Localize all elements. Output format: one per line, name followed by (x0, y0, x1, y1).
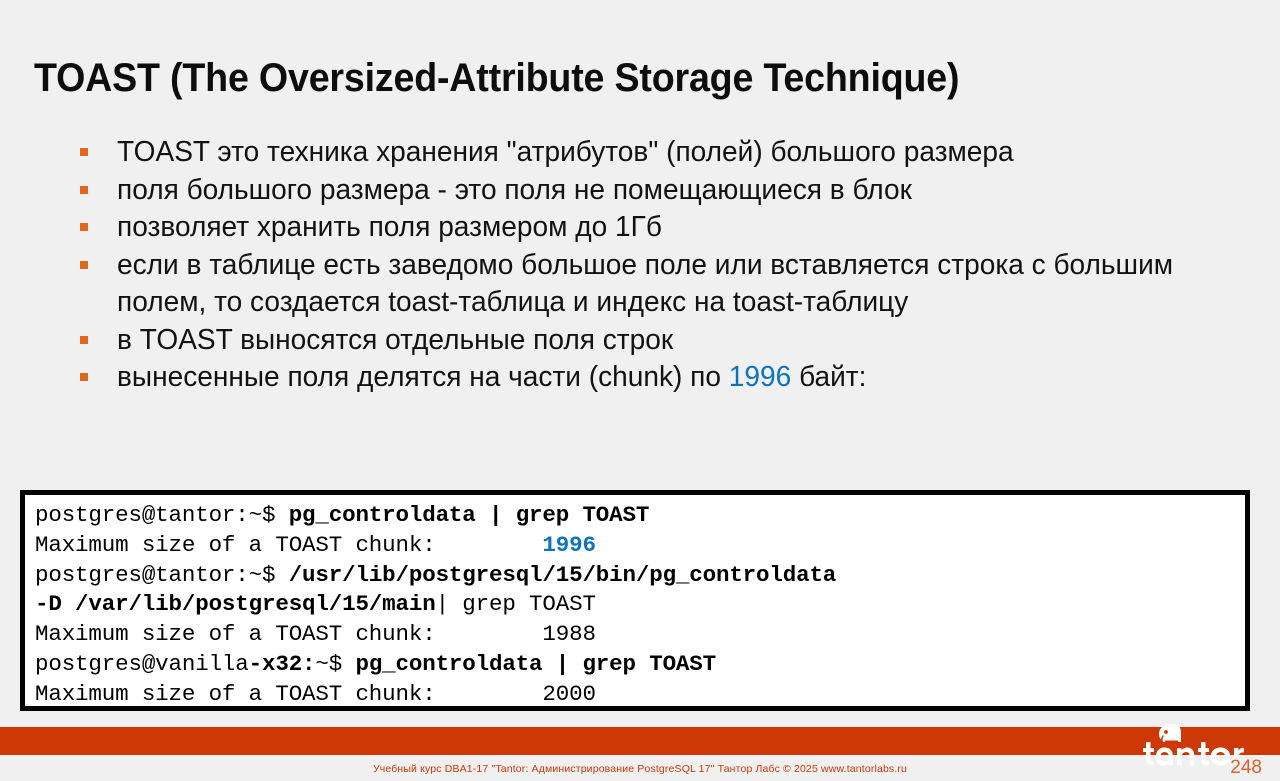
output-pad (436, 532, 543, 558)
bullet-square-icon (80, 148, 88, 156)
terminal-lines: postgres@tantor:~$ pg_controldata | grep… (25, 495, 1245, 710)
bullet-text: позволяет хранить поля размером до 1Гб (117, 209, 1174, 247)
terminal-line: Maximum size of a TOAST chunk: 2000 (35, 680, 1245, 710)
output-label: Maximum size of a TOAST chunk: (35, 681, 436, 707)
shell-command-tail: | grep TOAST (436, 591, 596, 617)
shell-prompt: postgres@tantor:~$ (35, 502, 289, 528)
footer-band (0, 727, 1280, 755)
bullet-list: TOAST это техника хранения "атрибутов" (… (80, 134, 1190, 397)
terminal-line: postgres@vanilla-x32:~$ pg_controldata |… (35, 650, 1245, 680)
shell-prompt-tail: ~$ (315, 651, 355, 677)
chunk-size-highlight: 1996 (729, 361, 791, 393)
terminal-line: -D /var/lib/postgresql/15/main| grep TOA… (35, 590, 1245, 620)
list-item: TOAST это техника хранения "атрибутов" (… (80, 134, 1190, 172)
output-pad (436, 681, 543, 707)
bullet-text: поля большого размера - это поля не поме… (117, 172, 1174, 210)
bullet-text-after: байт: (791, 361, 866, 393)
list-item: позволяет хранить поля размером до 1Гб (80, 209, 1190, 247)
list-item: если в таблице есть заведомо большое пол… (80, 247, 1190, 322)
shell-command: pg_controldata | grep TOAST (289, 502, 650, 528)
output-label: Maximum size of a TOAST chunk: (35, 621, 436, 647)
shell-command: pg_controldata | grep TOAST (355, 651, 716, 677)
terminal-line: Maximum size of a TOAST chunk: 1988 (35, 620, 1245, 650)
output-value: 1988 (542, 621, 595, 647)
bullet-square-icon (80, 373, 88, 381)
list-item: в TOAST выносятся отдельные поля строк (80, 322, 1190, 360)
terminal-line: Maximum size of a TOAST chunk: 1996 (35, 531, 1245, 561)
bullet-square-icon (80, 186, 88, 194)
slide-root: TOAST (The Oversized-Attribute Storage T… (0, 0, 1280, 781)
shell-command-continued: -D /var/lib/postgresql/15/main (35, 591, 436, 617)
output-label: Maximum size of a TOAST chunk: (35, 532, 436, 558)
shell-prompt-host: postgres@vanilla (35, 651, 249, 677)
bullet-square-icon (80, 336, 88, 344)
list-item: вынесенные поля делятся на части (chunk)… (80, 359, 1190, 397)
output-pad (436, 621, 543, 647)
terminal-line: postgres@tantor:~$ /usr/lib/postgresql/1… (35, 561, 1245, 591)
bullet-text: если в таблице есть заведомо большое пол… (117, 247, 1174, 322)
page-title: TOAST (The Oversized-Attribute Storage T… (34, 54, 1171, 102)
shell-command: /usr/lib/postgresql/15/bin/pg_controldat… (289, 562, 836, 588)
bullet-square-icon (80, 223, 88, 231)
shell-prompt-suffix: -x32: (249, 651, 316, 677)
bullet-text: в TOAST выносятся отдельные поля строк (117, 322, 1174, 360)
output-value: 2000 (542, 681, 595, 707)
bullet-text: вынесенные поля делятся на части (chunk)… (117, 359, 1174, 397)
bullet-text-before: вынесенные поля делятся на части (chunk)… (117, 361, 729, 393)
bullet-square-icon (80, 261, 88, 269)
page-number: 248 (1230, 757, 1262, 779)
list-item: поля большого размера - это поля не поме… (80, 172, 1190, 210)
terminal-line: postgres@tantor:~$ pg_controldata | grep… (35, 501, 1245, 531)
terminal-output-box: postgres@tantor:~$ pg_controldata | grep… (20, 490, 1250, 711)
shell-prompt: postgres@tantor:~$ (35, 562, 289, 588)
output-value: 1996 (542, 532, 595, 558)
footer-copyright: Учебный курс DBA1-17 "Tantor: Администри… (0, 762, 1280, 776)
bullet-text: TOAST это техника хранения "атрибутов" (… (117, 134, 1174, 172)
